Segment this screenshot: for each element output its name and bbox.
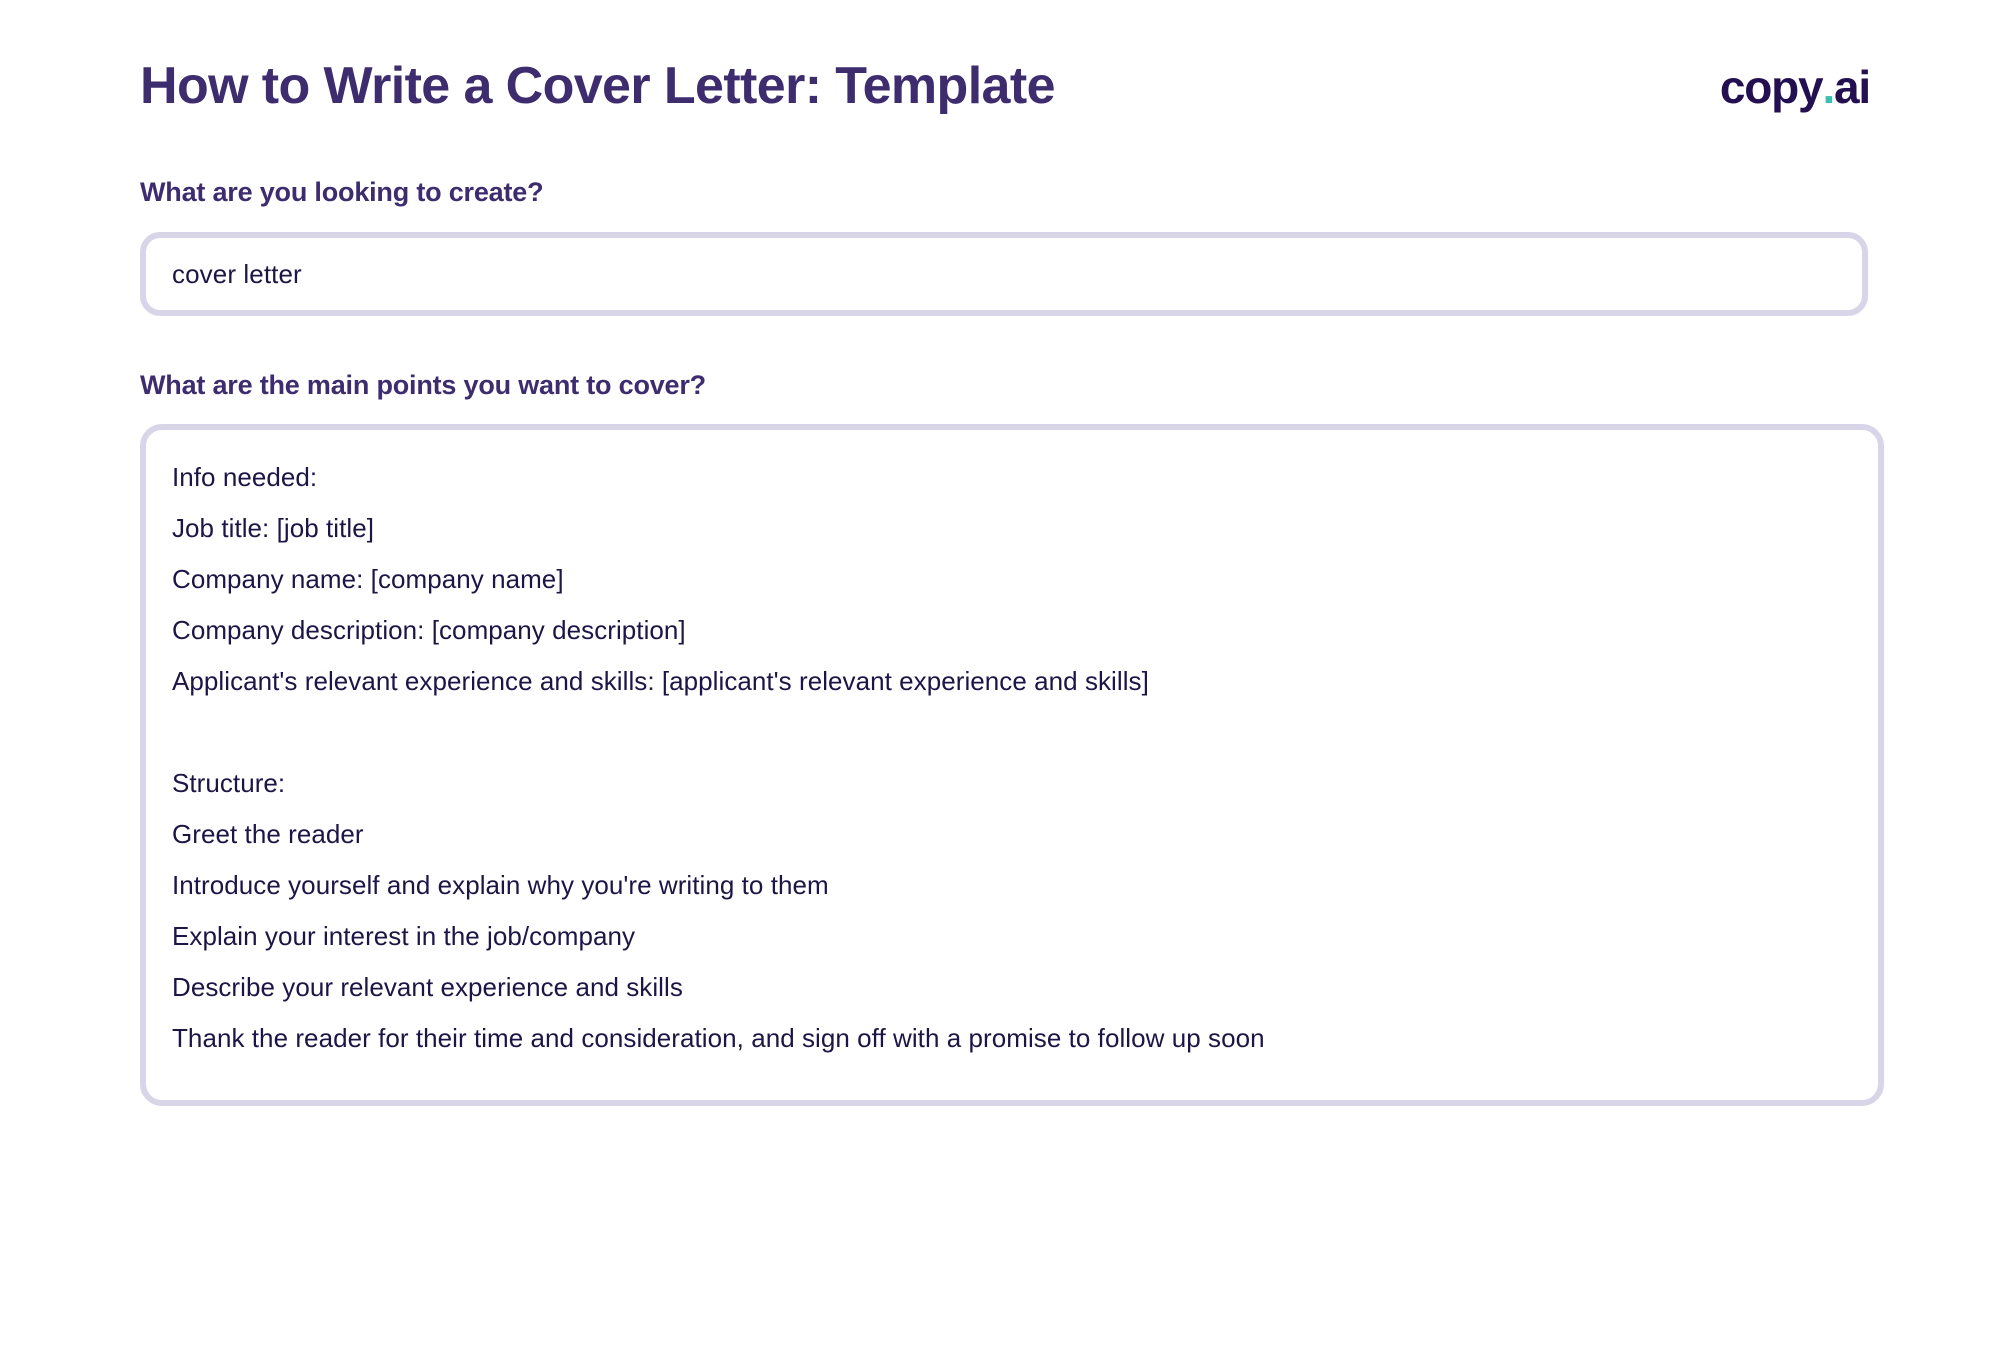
page-title: How to Write a Cover Letter: Template [140,58,1055,115]
textarea-line: Thank the reader for their time and cons… [172,1013,1852,1064]
logo-dot-icon: . [1822,64,1834,110]
copy-ai-logo: copy.ai [1720,64,1870,110]
create-field-label: What are you looking to create? [140,177,543,208]
textarea-line: Applicant's relevant experience and skil… [172,656,1852,707]
points-field-label: What are the main points you want to cov… [140,370,706,401]
textarea-line: Greet the reader [172,809,1852,860]
points-textarea[interactable]: Info needed: Job title: [job title] Comp… [140,424,1884,1106]
textarea-line: Structure: [172,758,1852,809]
create-input-value: cover letter [172,261,302,287]
logo-text-ai: ai [1834,64,1870,110]
textarea-line: Introduce yourself and explain why you'r… [172,860,1852,911]
textarea-line: Describe your relevant experience and sk… [172,962,1852,1013]
page-header: How to Write a Cover Letter: Template co… [140,58,1870,138]
textarea-line: Explain your interest in the job/company [172,911,1852,962]
textarea-line: Company name: [company name] [172,554,1852,605]
page-root: How to Write a Cover Letter: Template co… [0,0,2000,1362]
textarea-line: Company description: [company descriptio… [172,605,1852,656]
logo-text-copy: copy [1720,64,1823,110]
create-input[interactable]: cover letter [140,232,1868,316]
textarea-line-blank [172,707,1852,758]
textarea-line: Info needed: [172,452,1852,503]
textarea-line: Job title: [job title] [172,503,1852,554]
